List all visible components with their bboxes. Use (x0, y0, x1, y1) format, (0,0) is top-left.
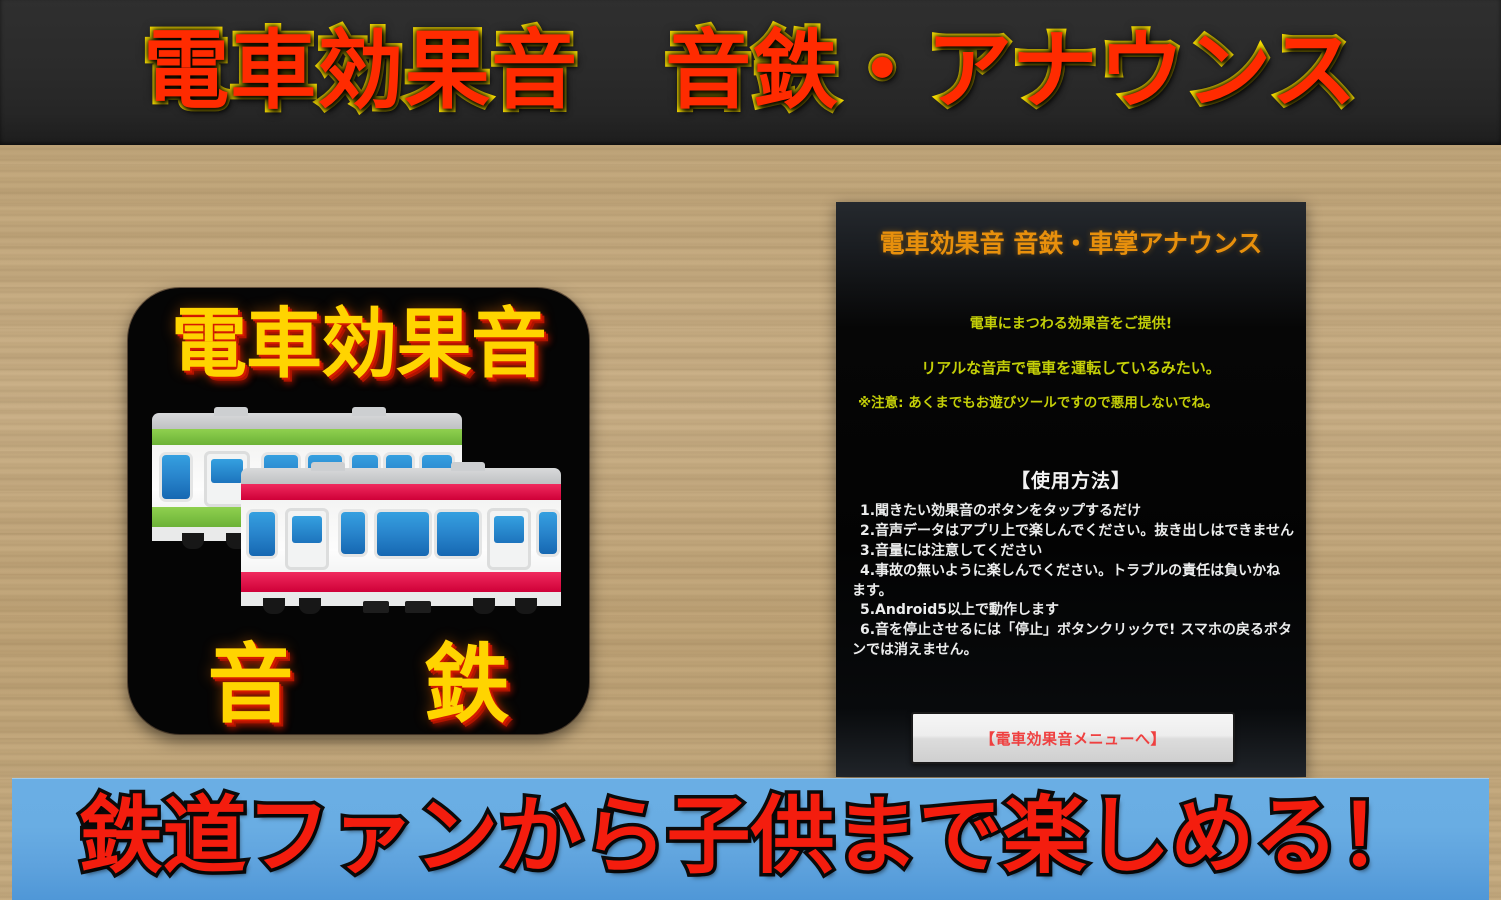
howto-item: 1.聞きたい効果音のボタンをタップするだけ (852, 502, 1294, 522)
train-stripe-top (152, 429, 462, 445)
app-store-promo-screenshot: 電車効果音 音鉄・アナウンス 電車効果音 (0, 0, 1501, 900)
train-window (539, 512, 557, 554)
howto-item: 3.音量には注意してください (852, 542, 1294, 562)
app-icon[interactable]: 電車効果音 (128, 288, 589, 734)
train-wheel (182, 533, 204, 549)
footer-banner: 鉄道ファンから子供まで楽しめる！ (12, 778, 1489, 900)
sound-effect-menu-button[interactable]: 【電車効果音メニューへ】 (911, 712, 1235, 764)
app-icon-top-label: 電車効果音 (128, 306, 589, 382)
train-roof-box (451, 462, 485, 471)
header-banner: 電車効果音 音鉄・アナウンス (0, 0, 1501, 145)
train-window (249, 512, 275, 556)
train-roof-box (214, 407, 248, 416)
app-icon-bottom-label: 音 鉄 (128, 642, 589, 728)
howto-item: 4.事故の無いように楽しんでください。トラブルの責任は負いかねます。 (852, 562, 1294, 602)
train-window (437, 512, 479, 556)
train-door (487, 508, 531, 570)
howto-heading: 【使用方法】 (836, 466, 1306, 493)
app-screenshot-panel: 電車効果音 音鉄・車掌アナウンス 電車にまつわる効果音をご提供! リアルな音声で… (836, 202, 1306, 777)
train-wheel (515, 598, 537, 614)
train-window (341, 512, 365, 554)
train-roof-box (311, 462, 345, 471)
sound-effect-menu-button-label: 【電車効果音メニューへ】 (980, 728, 1166, 749)
train-stripe-bottom (241, 572, 561, 592)
train-roof (152, 413, 462, 429)
train-wheel (473, 598, 495, 614)
train-underbox (405, 601, 431, 613)
howto-item: 6.音を停止させるには「停止」ボタンクリックで! スマホの戻るボタンでは消えませ… (852, 621, 1294, 661)
train-window (377, 512, 429, 556)
train-red-illustration (241, 468, 561, 606)
howto-item: 5.Android5以上で動作します (852, 601, 1294, 621)
train-roof (241, 468, 561, 484)
train-wheel (263, 598, 285, 614)
train-window (162, 455, 190, 499)
howto-item: 2.音声データはアプリ上で楽しんでください。抜き出しはできません (852, 522, 1294, 542)
panel-lead-line-1: 電車にまつわる効果音をご提供! (970, 316, 1172, 332)
train-underbox (363, 601, 389, 613)
train-roof-box (352, 407, 386, 416)
panel-title: 電車効果音 音鉄・車掌アナウンス (836, 224, 1306, 260)
howto-list: 1.聞きたい効果音のボタンをタップするだけ 2.音声データはアプリ上で楽しんでく… (852, 502, 1294, 661)
panel-lead-text: 電車にまつわる効果音をご提供! リアルな音声で電車を運転しているみたい。 (836, 317, 1306, 376)
panel-caution-text: ※注意: あくまでもお遊びツールですので悪用しないでね。 (858, 394, 1288, 412)
train-wheel (299, 598, 321, 614)
train-stripe-top (241, 484, 561, 500)
train-skirt (241, 592, 561, 606)
footer-tagline: 鉄道ファンから子供まで楽しめる！ (78, 794, 1422, 878)
header-title: 電車効果音 音鉄・アナウンス (143, 28, 1358, 114)
train-door (285, 508, 329, 570)
panel-lead-line-2: リアルな音声で電車を運転しているみたい。 (836, 361, 1306, 376)
